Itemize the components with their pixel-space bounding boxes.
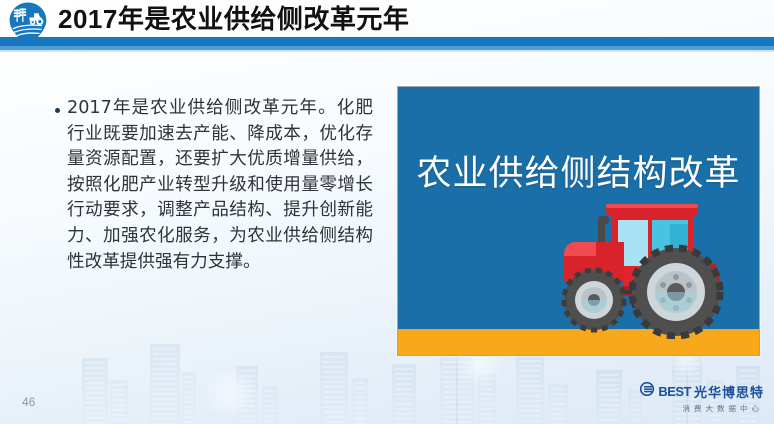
- bullet-item: 2017年是农业供给侧改革元年。化肥行业既要加速去产能、降成本，优化存量资源配置…: [55, 96, 373, 275]
- header-accent-bar-pale: [0, 50, 774, 52]
- brand-mark-text: BEST: [658, 384, 691, 399]
- page-title: 2017年是农业供给侧改革元年: [58, 3, 409, 35]
- slide-canvas: 2017年是农业供给侧改革元年 2017年是农业供给侧改革元年。化肥行业既要加速…: [0, 0, 774, 424]
- illustration-caption: 农业供给侧结构改革: [398, 145, 759, 196]
- brand-name: 光华博思特: [694, 382, 764, 401]
- content-body: 2017年是农业供给侧改革元年。化肥行业既要加速去产能、降成本，优化存量资源配置…: [55, 96, 373, 275]
- page-number: 46: [22, 395, 35, 409]
- illustration-panel: 农业供给侧结构改革: [397, 86, 760, 356]
- slide-header: 2017年是农业供给侧改革元年: [0, 0, 774, 50]
- header-accent-bar: [0, 37, 774, 46]
- brand-logo: BEST 光华博思特 消费大数据中心: [640, 382, 764, 416]
- brand-tagline: 消费大数据中心: [683, 403, 764, 414]
- brand-logo-top: BEST 光华博思特: [640, 382, 764, 401]
- bullet-paragraph: 2017年是农业供给侧改革元年。化肥行业既要加速去产能、降成本，优化存量资源配置…: [67, 96, 373, 275]
- tractor-icon: [548, 194, 753, 339]
- brand-mark: BEST: [658, 384, 691, 399]
- bullet-dot-icon: [55, 108, 60, 113]
- best-monogram-icon: [640, 382, 655, 401]
